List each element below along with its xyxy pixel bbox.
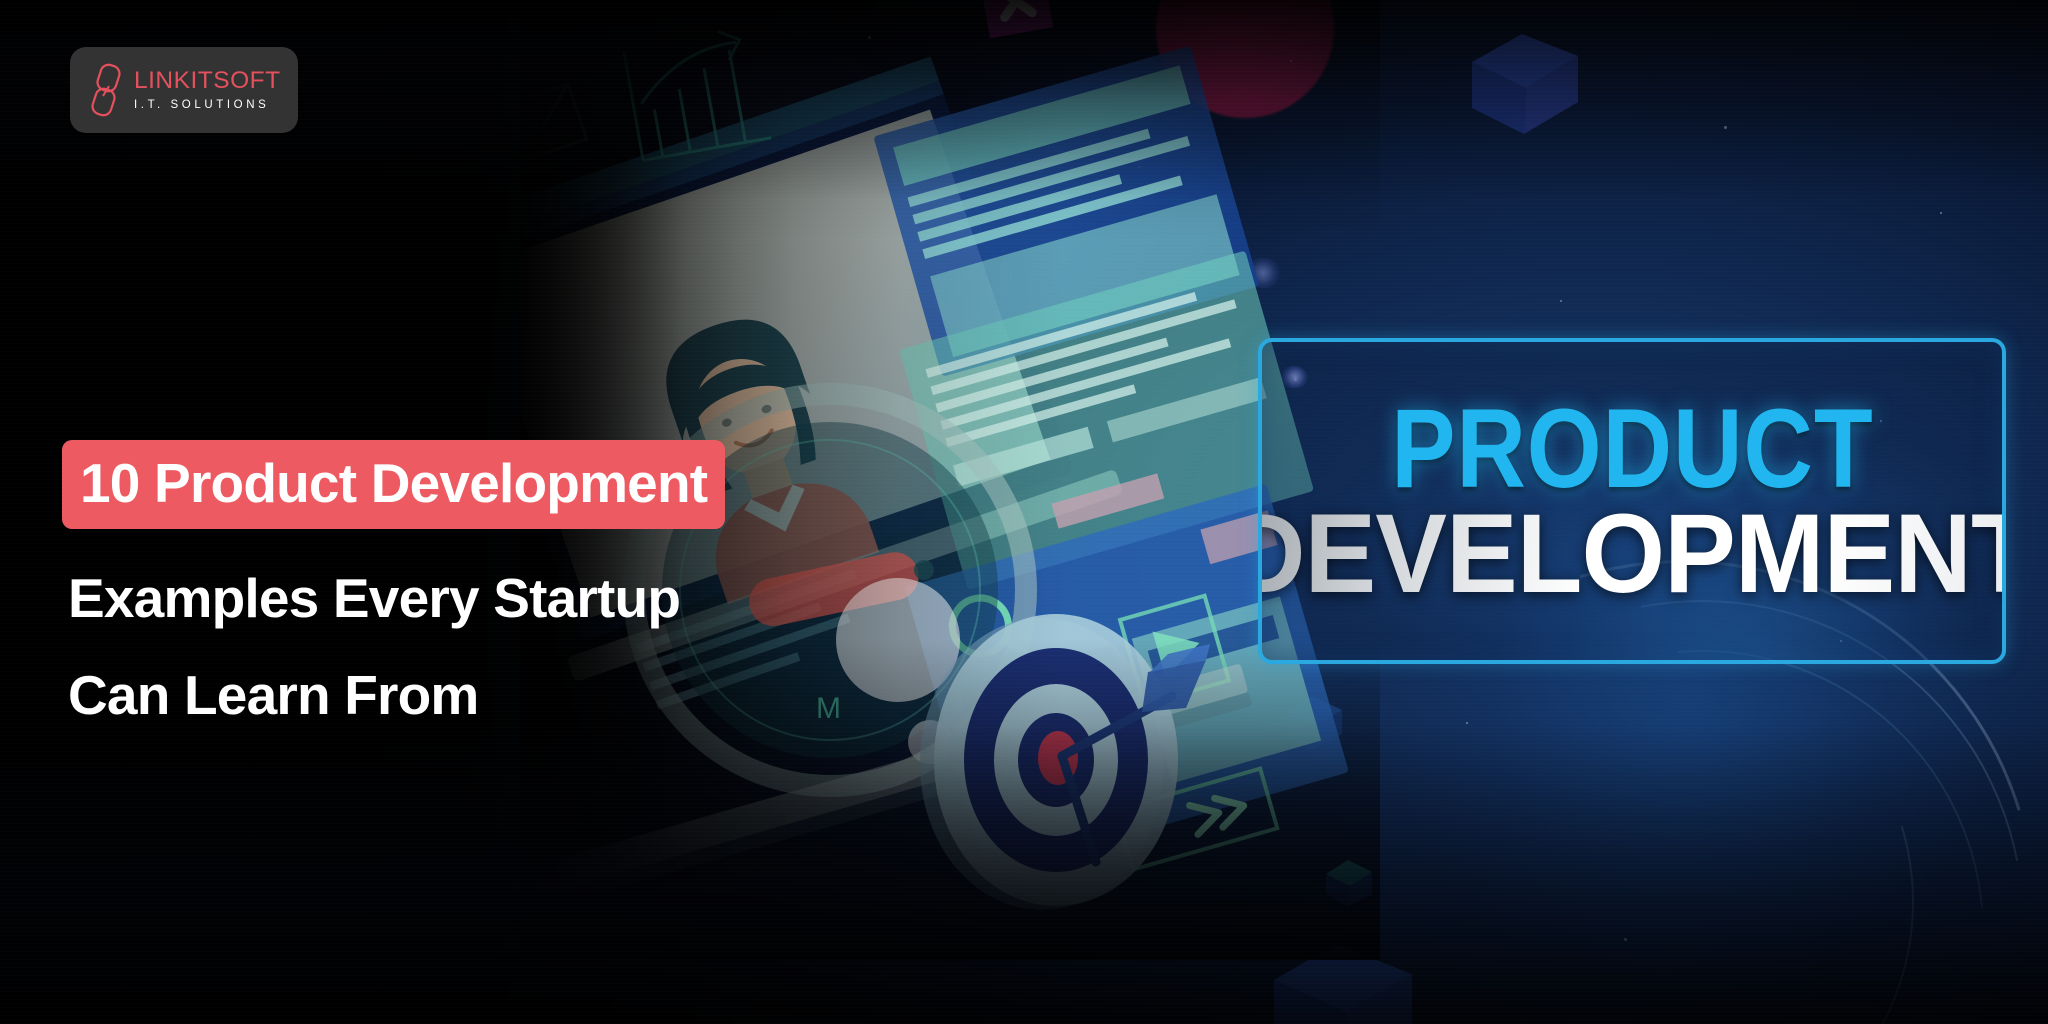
brand-logo-text: LINKITSOFT I.T. SOLUTIONS	[134, 69, 281, 112]
brand-tagline: I.T. SOLUTIONS	[134, 100, 281, 112]
headline-row-1: 10 Product Development	[66, 440, 886, 529]
callout-word-product: PRODUCT	[1391, 397, 1873, 500]
headline-row-3: Can Learn From	[66, 668, 886, 723]
headline-row-2: Examples Every Startup	[66, 571, 886, 626]
brand-name: LINKITSOFT	[134, 69, 281, 94]
chain-link-icon	[90, 63, 124, 117]
headline-line-2: Examples Every Startup	[68, 567, 680, 629]
headline-block: 10 Product Development Examples Every St…	[66, 440, 886, 723]
product-development-callout: PRODUCT DEVELOPMENT	[1258, 338, 2006, 664]
callout-word-development: DEVELOPMENT	[1258, 502, 2006, 605]
brand-logo[interactable]: LINKITSOFT I.T. SOLUTIONS	[70, 47, 298, 133]
headline-line-3: Can Learn From	[68, 664, 479, 726]
headline-line-1: 10 Product Development	[62, 440, 725, 529]
banner-canvas: M	[0, 0, 2048, 1024]
